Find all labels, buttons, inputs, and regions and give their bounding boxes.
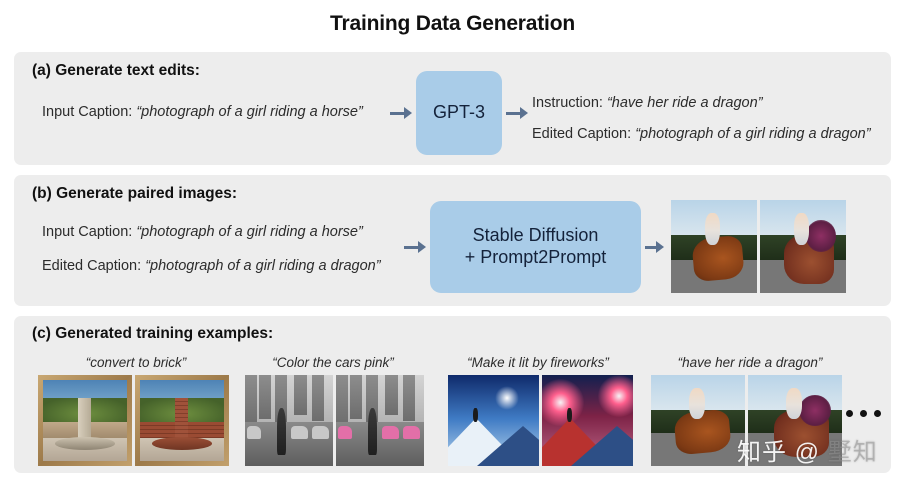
panel-b-heading: (b) Generate paired images: [32, 185, 237, 203]
panel-b-input-caption: Input Caption: “photograph of a girl rid… [42, 224, 363, 240]
ellipsis-dot-1 [846, 410, 853, 417]
panel-b-edited-label: Edited Caption: [42, 258, 141, 274]
panel-a-heading: (a) Generate text edits: [32, 62, 200, 80]
ellipsis-dot-2 [860, 410, 867, 417]
gpt3-model-box[interactable]: GPT-3 [416, 71, 502, 155]
image-street-bw [245, 375, 333, 466]
arrow-to-gpt3 [390, 107, 412, 119]
panel-a-instruction-value: “have her ride a dragon” [607, 95, 763, 111]
panel-a-input-caption: Input Caption: “photograph of a girl rid… [42, 104, 363, 120]
image-mountain-daylight [448, 375, 539, 466]
panel-a-edited-caption-value: “photograph of a girl riding a dragon” [635, 126, 870, 142]
panel-b-input-value: “photograph of a girl riding a horse” [136, 224, 363, 240]
panel-b-edited-caption: Edited Caption: “photograph of a girl ri… [42, 258, 381, 274]
example-caption-convert-to-brick: “convert to brick” [46, 355, 226, 370]
panel-b-edited-value: “photograph of a girl riding a dragon” [145, 258, 380, 274]
image-example-girl-dragon [748, 375, 842, 466]
example-image-pair-cars [245, 375, 424, 466]
arrow-from-gpt3 [506, 107, 528, 119]
stable-diffusion-model-box[interactable]: Stable Diffusion + Prompt2Prompt [430, 201, 641, 293]
example-caption-color-cars-pink: “Color the cars pink” [238, 355, 428, 370]
panel-b-output-image-pair [671, 200, 846, 293]
stable-diffusion-label-line1: Stable Diffusion [473, 225, 599, 245]
image-fountain-stone [38, 375, 132, 466]
example-image-pair-dragon [651, 375, 842, 466]
example-image-pair-fireworks [448, 375, 633, 466]
stable-diffusion-label-line2: + Prompt2Prompt [465, 247, 607, 267]
example-caption-make-it-lit-by-fireworks: “Make it lit by fireworks” [438, 355, 638, 370]
panel-a-input-label: Input Caption: [42, 104, 132, 120]
image-mountain-fireworks [542, 375, 633, 466]
panel-c-heading: (c) Generated training examples: [32, 325, 273, 343]
figure-title: Training Data Generation [0, 12, 905, 36]
example-caption-have-her-ride-a-dragon: “have her ride a dragon” [650, 355, 850, 370]
panel-a-instruction-label: Instruction: [532, 95, 603, 111]
image-street-pink-cars [336, 375, 424, 466]
image-girl-riding-horse [671, 200, 757, 293]
gpt3-label: GPT-3 [433, 102, 485, 124]
example-image-pair-brick [38, 375, 229, 466]
image-example-girl-horse [651, 375, 745, 466]
panel-a-edited-caption-line: Edited Caption: “photograph of a girl ri… [532, 126, 871, 142]
panel-a-input-value: “photograph of a girl riding a horse” [136, 104, 363, 120]
more-examples-ellipsis [846, 410, 881, 417]
image-fountain-brick [135, 375, 229, 466]
panel-a-edited-caption-label: Edited Caption: [532, 126, 631, 142]
panel-b-input-label: Input Caption: [42, 224, 132, 240]
arrow-to-stable-diffusion [404, 241, 426, 253]
panel-a-instruction-line: Instruction: “have her ride a dragon” [532, 95, 763, 111]
ellipsis-dot-3 [874, 410, 881, 417]
image-girl-riding-dragon [760, 200, 846, 293]
arrow-from-stable-diffusion [645, 241, 667, 253]
